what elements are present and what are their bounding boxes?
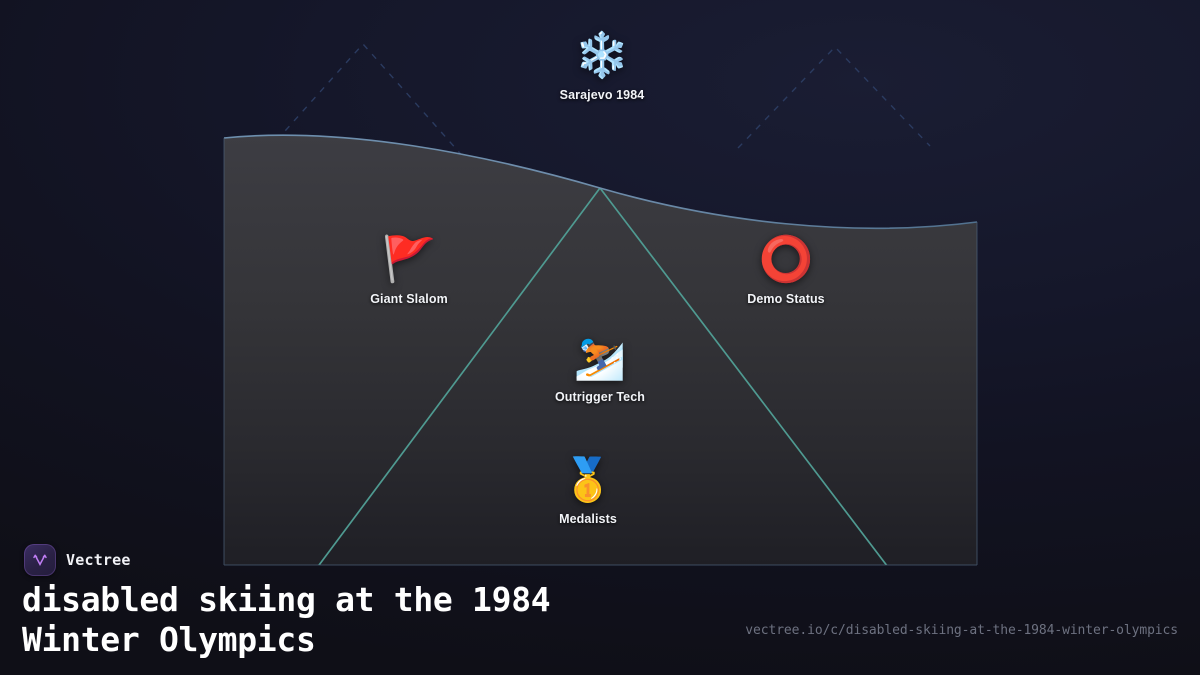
skier-icon: ⛷️ bbox=[574, 332, 626, 384]
node-demo-status[interactable]: ⭕ Demo Status bbox=[686, 234, 886, 306]
snowflake-icon: ❄️ bbox=[575, 30, 630, 82]
site-url: vectree.io/c/disabled-skiing-at-the-1984… bbox=[745, 623, 1178, 638]
brand-name: Vectree bbox=[66, 551, 131, 569]
node-label: Giant Slalom bbox=[370, 292, 448, 306]
share-card-canvas: ❄️ Sarajevo 1984 🚩 Giant Slalom ⭕ Demo S… bbox=[0, 0, 1200, 675]
node-label: Medalists bbox=[559, 512, 617, 526]
node-outrigger-tech[interactable]: ⛷️ Outrigger Tech bbox=[500, 332, 700, 404]
node-label: Sarajevo 1984 bbox=[560, 88, 645, 102]
red-circle-icon: ⭕ bbox=[759, 234, 814, 286]
node-medalists[interactable]: 🥇 Medalists bbox=[488, 454, 688, 526]
node-label: Outrigger Tech bbox=[555, 390, 645, 404]
red-flag-icon: 🚩 bbox=[382, 234, 437, 286]
page-title: disabled skiing at the 1984 Winter Olymp… bbox=[22, 580, 682, 660]
node-sarajevo-1984[interactable]: ❄️ Sarajevo 1984 bbox=[502, 30, 702, 102]
node-label: Demo Status bbox=[747, 292, 825, 306]
gold-medal-icon: 🥇 bbox=[562, 454, 614, 506]
brand-row[interactable]: Vectree bbox=[24, 544, 131, 576]
vectree-branch-icon bbox=[24, 544, 56, 576]
node-giant-slalom[interactable]: 🚩 Giant Slalom bbox=[309, 234, 509, 306]
